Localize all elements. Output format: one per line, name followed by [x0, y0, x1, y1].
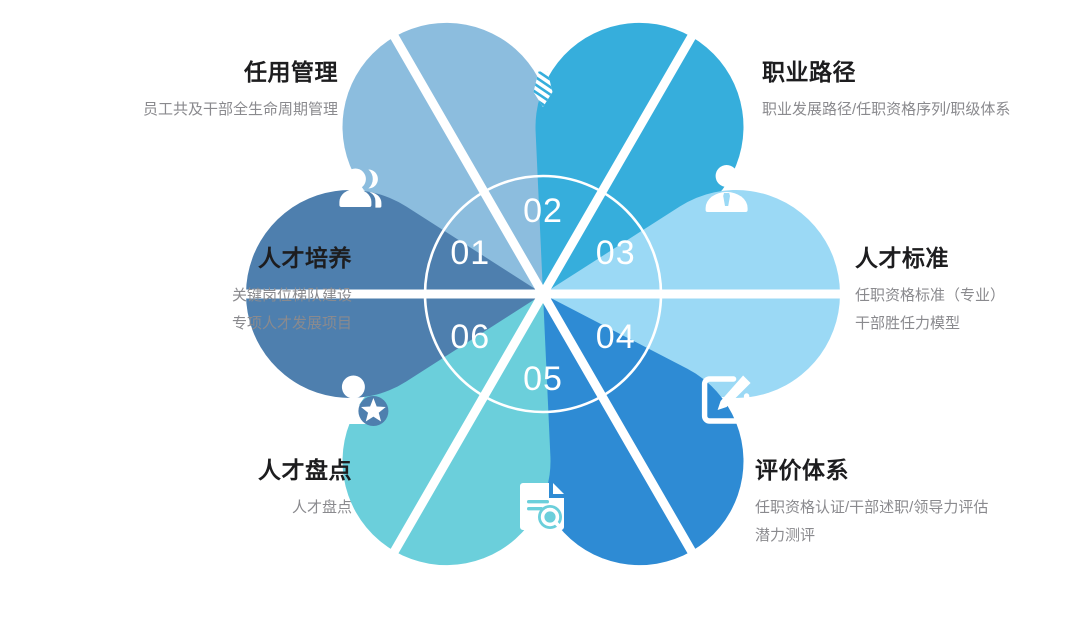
- caption-line-01-0: 员工共及干部全生命周期管理: [8, 96, 338, 124]
- caption-title-01: 任用管理: [8, 58, 338, 87]
- petal-number-04: 04: [596, 318, 636, 356]
- caption-line-02-0: 职业发展路径/任职资格序列/职级体系: [762, 96, 1081, 124]
- caption-block-01: 任用管理 员工共及干部全生命周期管理: [8, 58, 338, 124]
- caption-line-03-0: 任职资格标准（专业）: [855, 282, 1081, 310]
- caption-block-03: 人才标准 任职资格标准（专业） 干部胜任力模型: [855, 244, 1081, 337]
- document-search-icon: [520, 483, 564, 530]
- caption-title-03: 人才标准: [855, 244, 1081, 273]
- caption-block-05: 人才盘点 人才盘点: [22, 456, 352, 522]
- caption-title-05: 人才盘点: [22, 456, 352, 485]
- infographic-canvas: 010203040506 任用管理 员工共及干部全生命周期管理 职业路径 职业发…: [0, 0, 1081, 626]
- caption-title-04: 评价体系: [755, 456, 1081, 485]
- caption-block-04: 评价体系 任职资格认证/干部述职/领导力评估 潜力测评: [755, 456, 1081, 549]
- caption-line-06-0: 关键岗位梯队建设: [22, 282, 352, 310]
- caption-line-05-0: 人才盘点: [22, 494, 352, 522]
- caption-block-06: 人才培养 关键岗位梯队建设 专项人才发展项目: [22, 244, 352, 337]
- petal-number-06: 06: [450, 318, 490, 356]
- caption-line-06-1: 专项人才发展项目: [22, 310, 352, 338]
- caption-block-02: 职业路径 职业发展路径/任职资格序列/职级体系: [762, 58, 1081, 124]
- caption-line-03-1: 干部胜任力模型: [855, 310, 1081, 338]
- caption-line-04-0: 任职资格认证/干部述职/领导力评估: [755, 494, 1081, 522]
- petal-number-02: 02: [523, 192, 563, 230]
- petal-number-03: 03: [596, 234, 636, 272]
- petal-number-05: 05: [523, 360, 563, 398]
- caption-title-02: 职业路径: [762, 58, 1081, 87]
- caption-title-06: 人才培养: [22, 244, 352, 273]
- caption-line-04-1: 潜力测评: [755, 522, 1081, 550]
- petal-number-01: 01: [450, 234, 490, 272]
